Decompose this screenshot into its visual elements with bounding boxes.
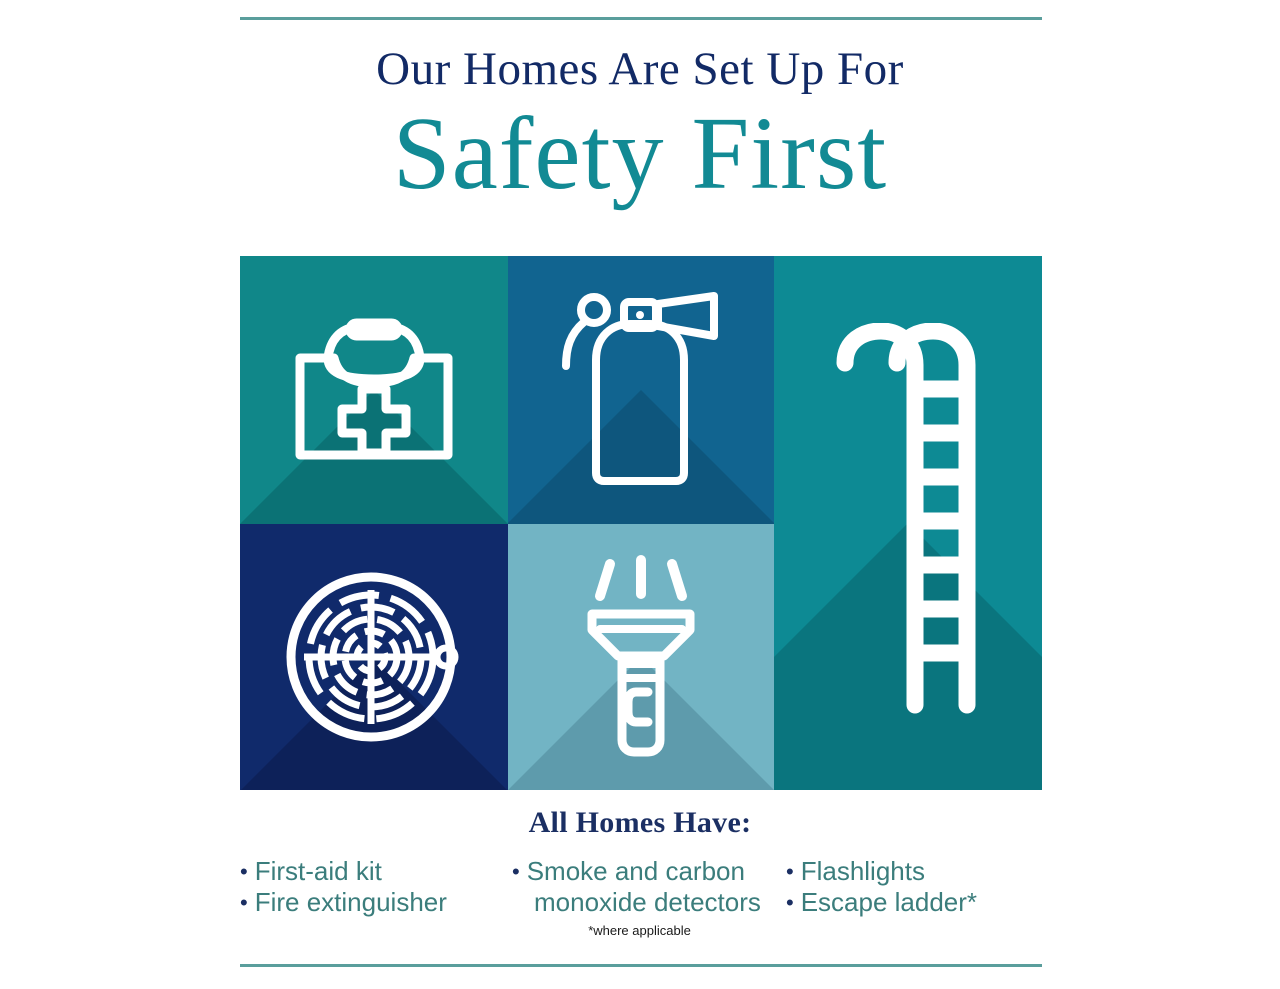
bullet-dot-icon: •	[240, 856, 248, 887]
flashlight-icon	[508, 524, 774, 790]
bullet-column-1: • First-aid kit • Fire extinguisher	[240, 856, 505, 918]
first-aid-kit-icon	[240, 256, 508, 524]
list-item: • Smoke and carbon	[512, 856, 777, 887]
bullet-dot-icon: •	[786, 856, 794, 887]
tile-escape-ladder	[774, 256, 1042, 790]
bullet-dot-icon: •	[786, 887, 794, 918]
list-item: • Flashlights	[786, 856, 1042, 887]
tile-smoke-detector	[240, 524, 508, 790]
list-item-continuation: monoxide detectors	[512, 887, 777, 918]
list-item: • First-aid kit	[240, 856, 505, 887]
footnote: *where applicable	[512, 923, 777, 938]
list-item-label: First-aid kit	[255, 856, 382, 887]
list-item-label: Flashlights	[801, 856, 925, 887]
title-line-2: Safety First	[0, 100, 1280, 208]
list-item: • Escape ladder*	[786, 887, 1042, 918]
tile-fire-extinguisher	[508, 256, 774, 524]
list-item-label: Smoke and carbon	[527, 856, 745, 887]
page-title: Our Homes Are Set Up For Safety First	[0, 40, 1280, 208]
smoke-detector-icon	[240, 524, 508, 790]
safety-first-poster: Our Homes Are Set Up For Safety First	[0, 0, 1280, 989]
title-line-1: Our Homes Are Set Up For	[0, 40, 1280, 98]
top-divider-rule	[240, 17, 1042, 20]
ladder-icon	[774, 256, 1042, 790]
list-item-label: Fire extinguisher	[255, 887, 447, 918]
fire-extinguisher-icon	[508, 256, 774, 524]
bullet-column-2: • Smoke and carbon monoxide detectors *w…	[512, 856, 777, 938]
bullet-column-3: • Flashlights • Escape ladder*	[786, 856, 1042, 918]
list-item: • Fire extinguisher	[240, 887, 505, 918]
tile-flashlight	[508, 524, 774, 790]
bullet-columns: • First-aid kit • Fire extinguisher • Sm…	[240, 856, 1042, 956]
icon-tile-grid	[240, 256, 1042, 790]
list-item-label: Escape ladder*	[801, 887, 977, 918]
bottom-divider-rule	[240, 964, 1042, 967]
bullet-dot-icon: •	[512, 856, 520, 887]
bullet-dot-icon: •	[240, 887, 248, 918]
tile-first-aid-kit	[240, 256, 508, 524]
footer-heading: All Homes Have:	[0, 806, 1280, 840]
